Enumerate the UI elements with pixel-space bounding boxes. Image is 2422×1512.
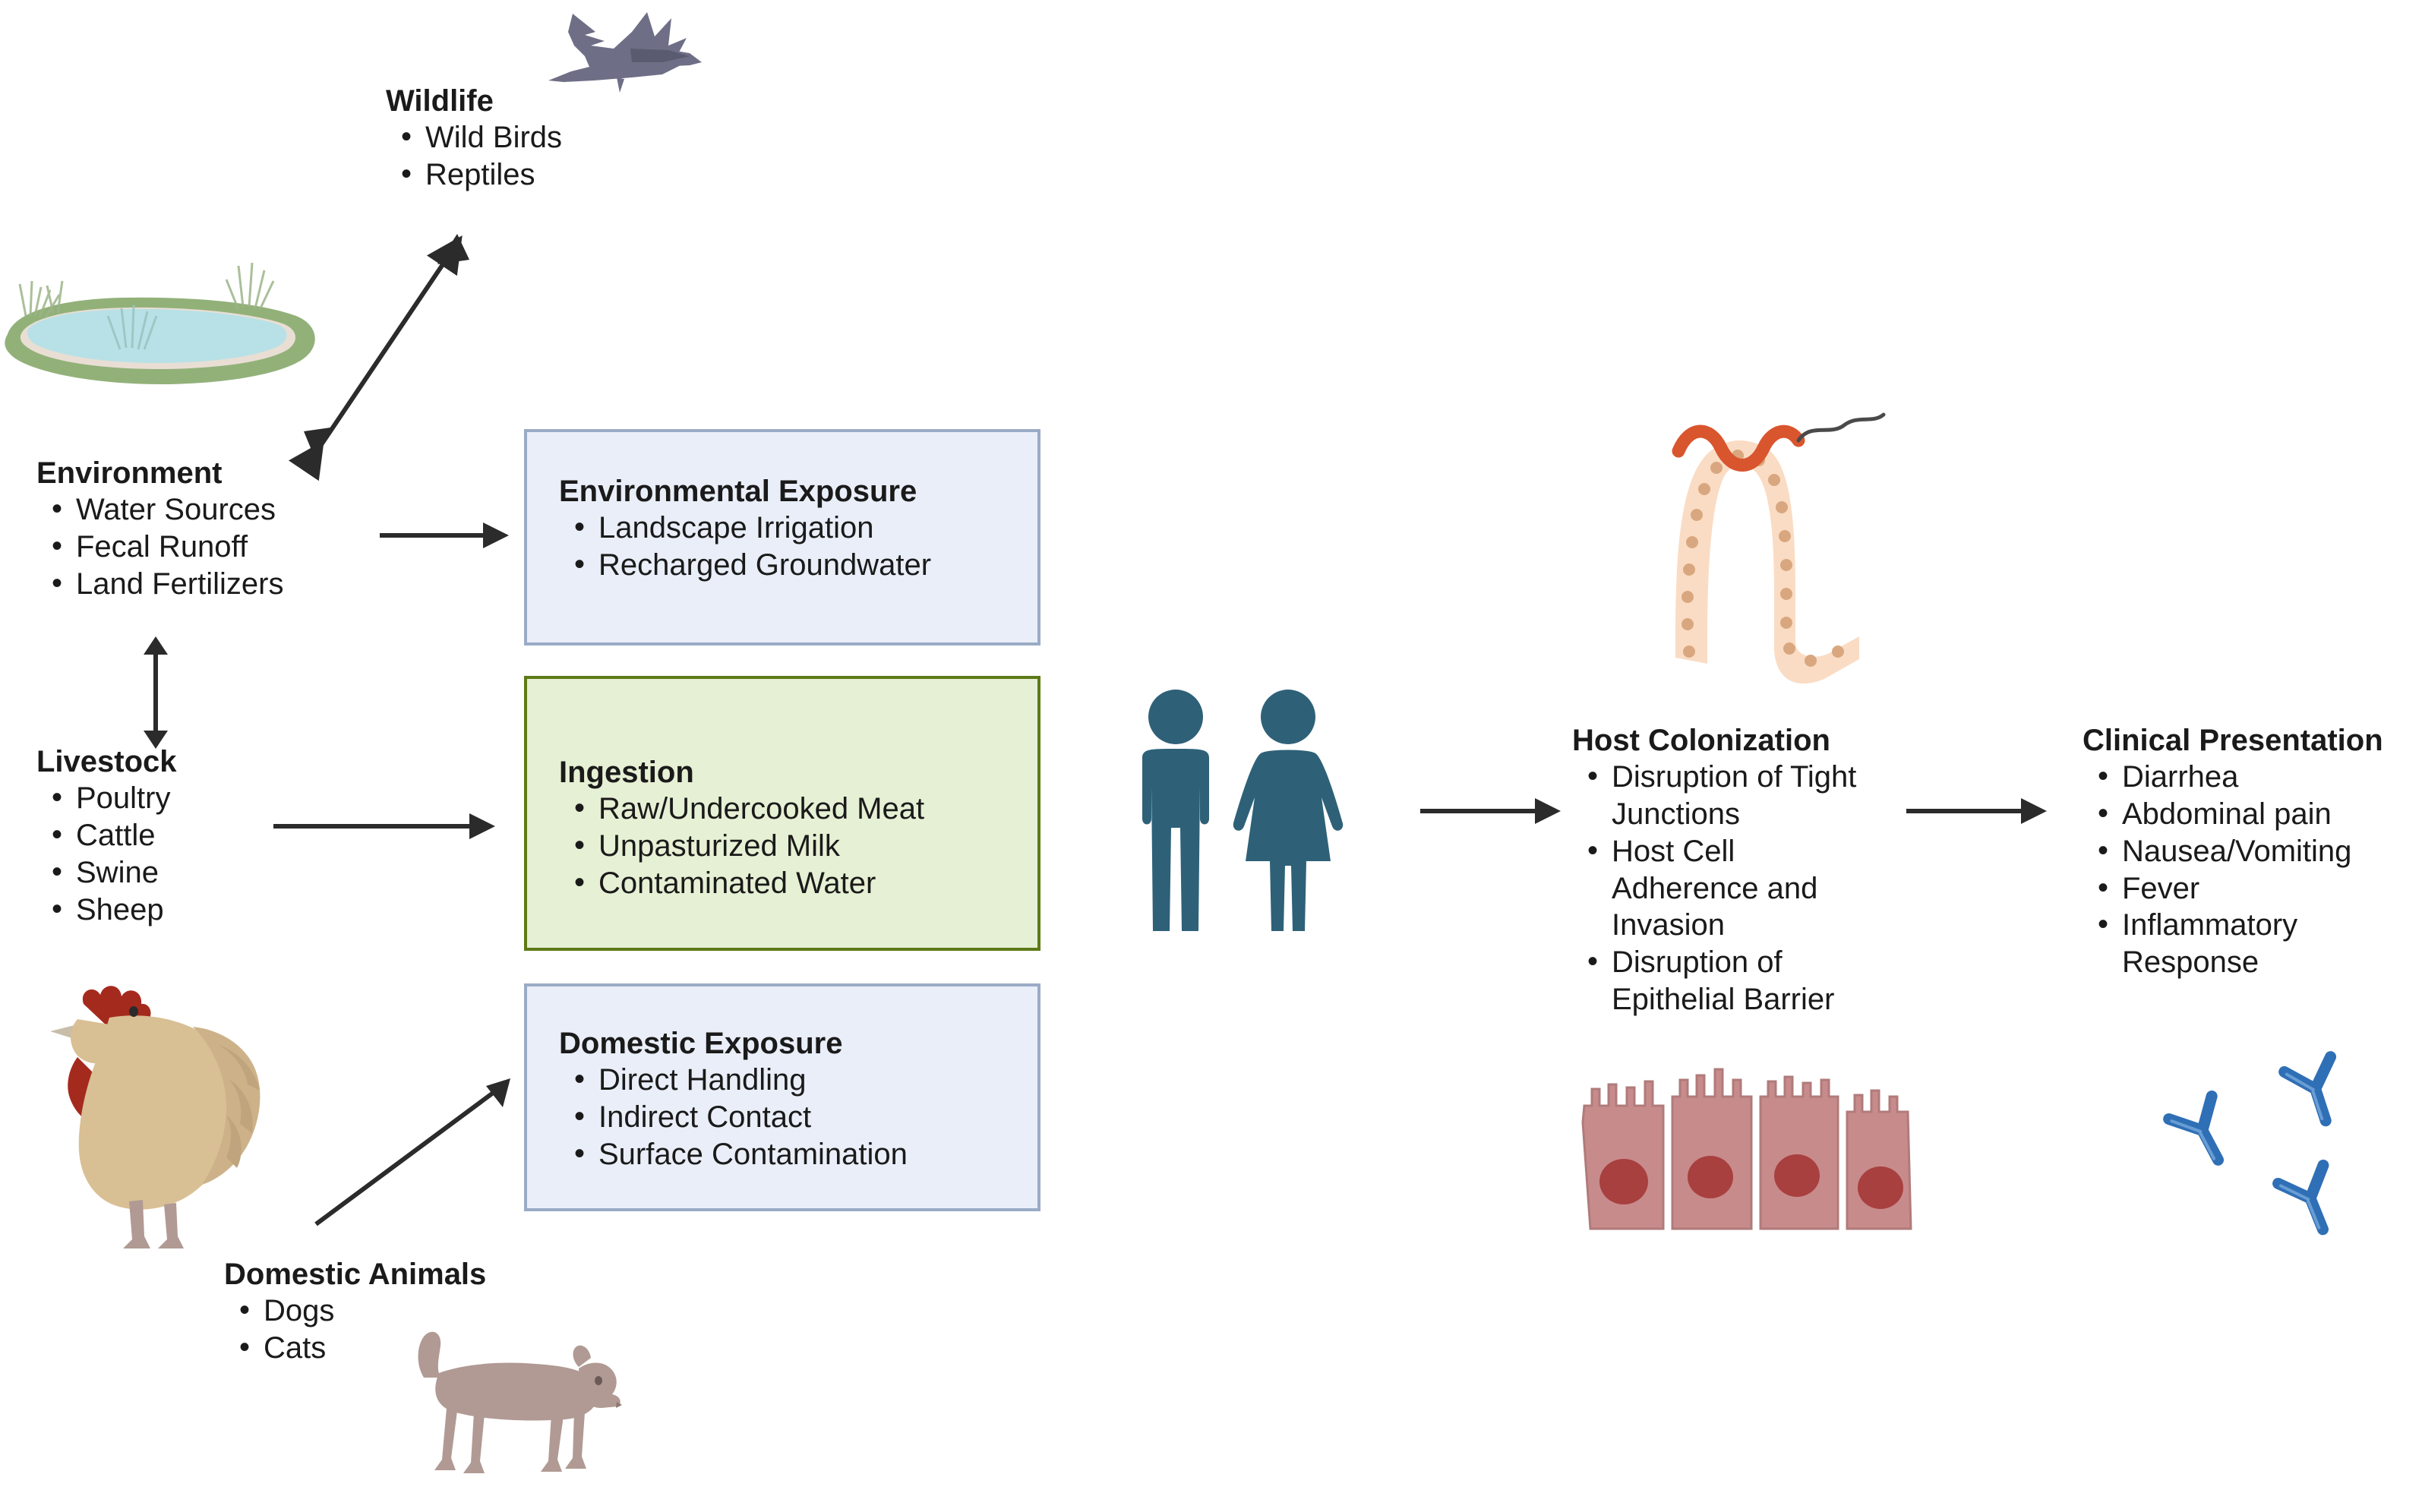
list-item: Diarrhea	[2083, 759, 2401, 796]
ingestion-list: Raw/Undercooked Meat Unpasturized Milk C…	[559, 791, 924, 901]
wildlife-list: Wild Birds Reptiles	[386, 119, 562, 194]
list-item: Swine	[36, 854, 177, 892]
host-colonization-list: Disruption of Tight Junctions Host Cell …	[1572, 759, 1876, 1018]
environment-title: Environment	[36, 456, 283, 491]
list-item: Abdominal pain	[2083, 796, 2401, 833]
dog-icon	[410, 1321, 623, 1496]
wildlife-title: Wildlife	[386, 84, 562, 119]
list-item: Raw/Undercooked Meat	[559, 791, 924, 828]
panel-environmental-exposure: Environmental Exposure Landscape Irrigat…	[524, 429, 1040, 646]
list-item: Fecal Runoff	[36, 529, 283, 566]
list-item: Contaminated Water	[559, 865, 924, 902]
antibody-icon	[2142, 1025, 2362, 1230]
chicken-icon	[30, 972, 281, 1253]
list-item: Recharged Groundwater	[559, 547, 931, 584]
list-item: Poultry	[36, 780, 177, 817]
list-item: Direct Handling	[559, 1062, 908, 1099]
host-colonization-title: Host Colonization	[1572, 723, 1891, 759]
node-wildlife: Wildlife Wild Birds Reptiles	[386, 84, 562, 194]
list-item: Disruption of Tight Junctions	[1572, 759, 1876, 833]
clinical-presentation-list: Diarrhea Abdominal pain Nausea/Vomiting …	[2083, 759, 2401, 981]
node-host-colonization: Host Colonization Disruption of Tight Ju…	[1572, 723, 1891, 1018]
livestock-list: Poultry Cattle Swine Sheep	[36, 780, 177, 928]
list-item: Sheep	[36, 892, 177, 929]
epithelial-cells-icon	[1580, 1046, 1914, 1229]
environment-list: Water Sources Fecal Runoff Land Fertiliz…	[36, 491, 283, 602]
node-environment: Environment Water Sources Fecal Runoff L…	[36, 456, 283, 603]
domestic-exposure-list: Direct Handling Indirect Contact Surface…	[559, 1062, 908, 1173]
domestic-animals-title: Domestic Animals	[224, 1257, 486, 1293]
list-item: Land Fertilizers	[36, 566, 283, 603]
diagram-canvas: Wildlife Wild Birds Reptiles	[0, 0, 2422, 1512]
list-item: Fever	[2083, 870, 2401, 908]
list-item: Wild Birds	[386, 119, 562, 156]
ingestion-content: Ingestion Raw/Undercooked Meat Unpasturi…	[559, 755, 924, 902]
list-item: Water Sources	[36, 491, 283, 529]
pond-icon	[0, 243, 327, 418]
list-item: Nausea/Vomiting	[2083, 833, 2401, 870]
livestock-title: Livestock	[36, 744, 177, 780]
list-item: Reptiles	[386, 156, 562, 194]
node-clinical-presentation: Clinical Presentation Diarrhea Abdominal…	[2083, 723, 2409, 981]
arrow-environment-to-wildlife	[281, 220, 494, 471]
environmental-exposure-title: Environmental Exposure	[559, 474, 931, 510]
node-livestock: Livestock Poultry Cattle Swine Sheep	[36, 744, 177, 928]
environmental-exposure-list: Landscape Irrigation Recharged Groundwat…	[559, 510, 931, 584]
domestic-exposure-title: Domestic Exposure	[559, 1026, 908, 1062]
environmental-exposure-content: Environmental Exposure Landscape Irrigat…	[559, 474, 931, 584]
list-item: Unpasturized Milk	[559, 828, 924, 865]
list-item: Landscape Irrigation	[559, 510, 931, 547]
intestinal-villus-icon	[1631, 387, 1935, 691]
list-item: Host Cell Adherence and Invasion	[1572, 833, 1876, 944]
domestic-exposure-content: Domestic Exposure Direct Handling Indire…	[559, 1026, 908, 1173]
list-item: Disruption of Epithelial Barrier	[1572, 944, 1876, 1018]
list-item: Inflammatory Response	[2083, 907, 2335, 981]
list-item: Cattle	[36, 817, 177, 854]
human-pair-icon	[1123, 683, 1366, 934]
clinical-presentation-title: Clinical Presentation	[2083, 723, 2409, 759]
ingestion-title: Ingestion	[559, 755, 924, 791]
list-item: Surface Contamination	[559, 1136, 908, 1173]
list-item: Indirect Contact	[559, 1099, 908, 1136]
arrow-domestic-animals-to-domestic-exposure	[304, 1063, 532, 1238]
panel-domestic-exposure: Domestic Exposure Direct Handling Indire…	[524, 983, 1040, 1211]
flying-bird-icon	[541, 2, 708, 102]
panel-ingestion: Ingestion Raw/Undercooked Meat Unpasturi…	[524, 676, 1040, 951]
